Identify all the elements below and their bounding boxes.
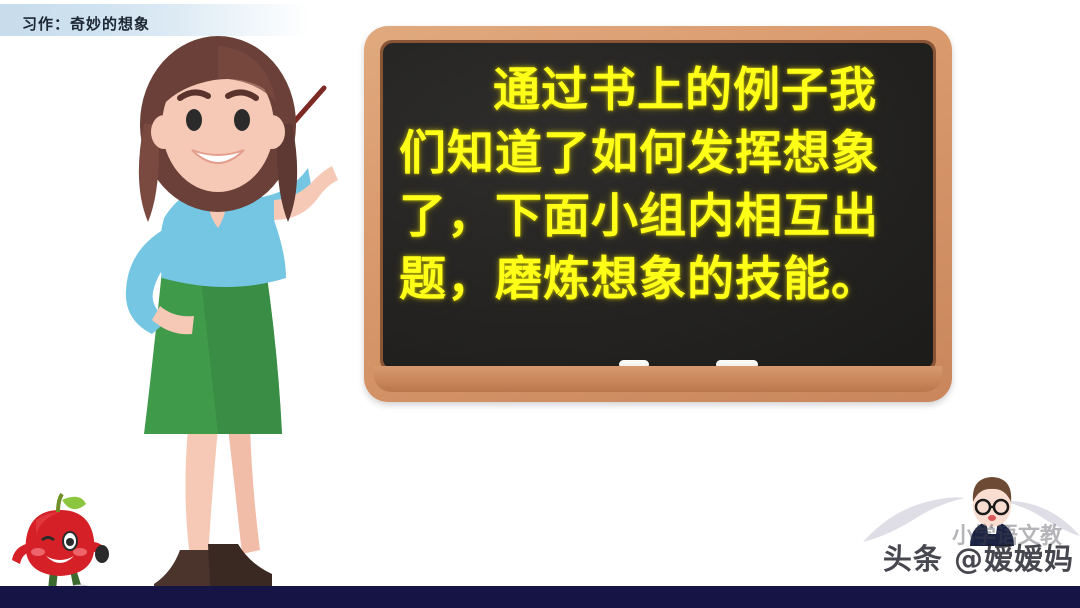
apple-pupil: [66, 538, 74, 546]
microphone-icon: [95, 545, 109, 563]
apple-body: [26, 510, 95, 576]
apple-blush-left: [31, 548, 45, 556]
apple-stem: [58, 494, 62, 512]
blackboard-surface: 通过书上的例子我们知道了如何发挥想象了，下面小组内相互出题，磨炼想象的技能。: [383, 43, 933, 369]
blackboard-text: 通过书上的例子我们知道了如何发挥想象了，下面小组内相互出题，磨炼想象的技能。: [399, 59, 923, 311]
blackboard: 通过书上的例子我们知道了如何发挥想象了，下面小组内相互出题，磨炼想象的技能。: [364, 26, 952, 402]
apple-blush-right: [73, 548, 87, 556]
watermark-text: 头条 @嫒嫒妈: [883, 536, 1074, 578]
shoe-right: [208, 544, 272, 586]
watermark: 小学语文教 头条 @嫒嫒妈: [865, 470, 1080, 590]
slide-canvas: 习作：奇妙的想象 通过书上的例子我们知道了如何发挥想象了，下面小组内相互出题，磨…: [0, 0, 1080, 608]
teacher-illustration: [92, 28, 342, 588]
apple-mascot: [6, 486, 114, 598]
chalk-tray: [374, 366, 942, 392]
apple-leaf: [62, 497, 86, 509]
eye-left: [186, 109, 202, 131]
eye-right: [234, 109, 250, 131]
leg-right: [228, 426, 260, 554]
leg-left: [185, 428, 218, 558]
